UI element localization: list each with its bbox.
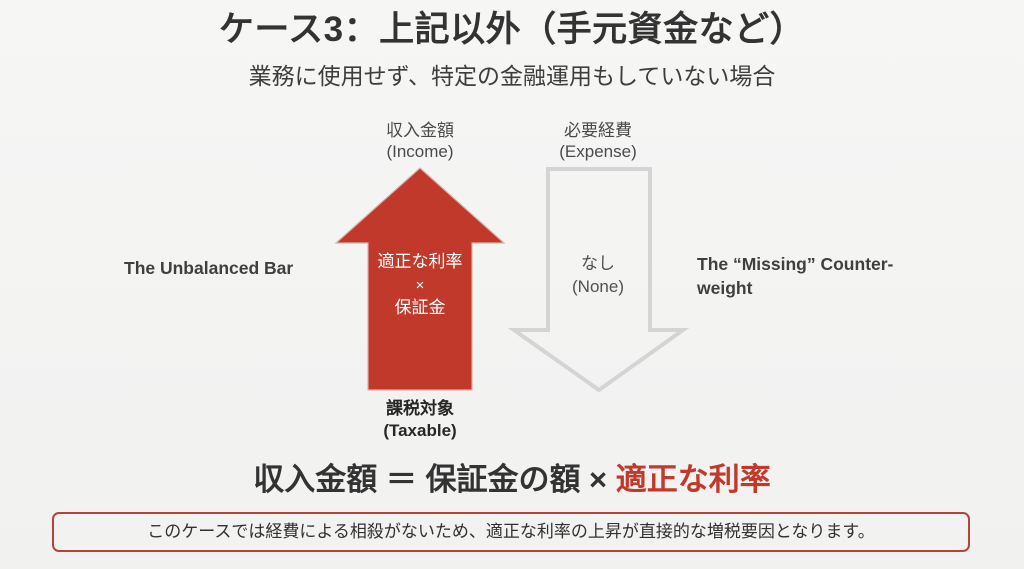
expense-body-line1: なし bbox=[581, 254, 615, 273]
expense-body-line2: (None) bbox=[572, 277, 624, 296]
expense-caption: 必要経費 (Expense) bbox=[498, 120, 698, 163]
taxable-label-en: (Taxable) bbox=[383, 421, 456, 440]
slide-canvas: ケース3：上記以外（手元資金など） 業務に使用せず、特定の金融運用もしていない場… bbox=[0, 0, 1024, 569]
expense-caption-jp: 必要経費 bbox=[564, 121, 632, 140]
income-body-operator: × bbox=[336, 275, 504, 297]
right-annotation-label: The “Missing” Counter-weight bbox=[697, 253, 932, 300]
taxable-label-jp: 課税対象 bbox=[386, 399, 454, 418]
income-caption: 収入金額 (Income) bbox=[320, 120, 520, 163]
note-box: このケースでは経費による相殺がないため、適正な利率の上昇が直接的な増税要因となり… bbox=[52, 512, 970, 552]
left-annotation-label: The Unbalanced Bar bbox=[124, 257, 340, 281]
income-body-line2: 保証金 bbox=[395, 298, 446, 317]
income-caption-en: (Income) bbox=[320, 141, 520, 162]
formula-plain: 収入金額 ＝ 保証金の額 × bbox=[253, 462, 616, 497]
formula-line: 収入金額 ＝ 保証金の額 × 適正な利率 bbox=[0, 461, 1024, 498]
page-title: ケース3：上記以外（手元資金など） bbox=[0, 9, 1024, 51]
income-arrow-body-text: 適正な利率 × 保証金 bbox=[336, 250, 504, 321]
income-body-line1: 適正な利率 bbox=[378, 252, 463, 271]
taxable-base-label: 課税対象 (Taxable) bbox=[330, 398, 510, 442]
page-subtitle: 業務に使用せず、特定の金融運用もしていない場合 bbox=[0, 62, 1024, 91]
formula-highlight: 適正な利率 bbox=[616, 462, 771, 497]
income-caption-jp: 収入金額 bbox=[386, 121, 454, 140]
expense-arrow-body-text: なし (None) bbox=[520, 253, 676, 299]
note-text: このケースでは経費による相殺がないため、適正な利率の上昇が直接的な増税要因となり… bbox=[147, 522, 874, 542]
expense-caption-en: (Expense) bbox=[498, 141, 698, 162]
